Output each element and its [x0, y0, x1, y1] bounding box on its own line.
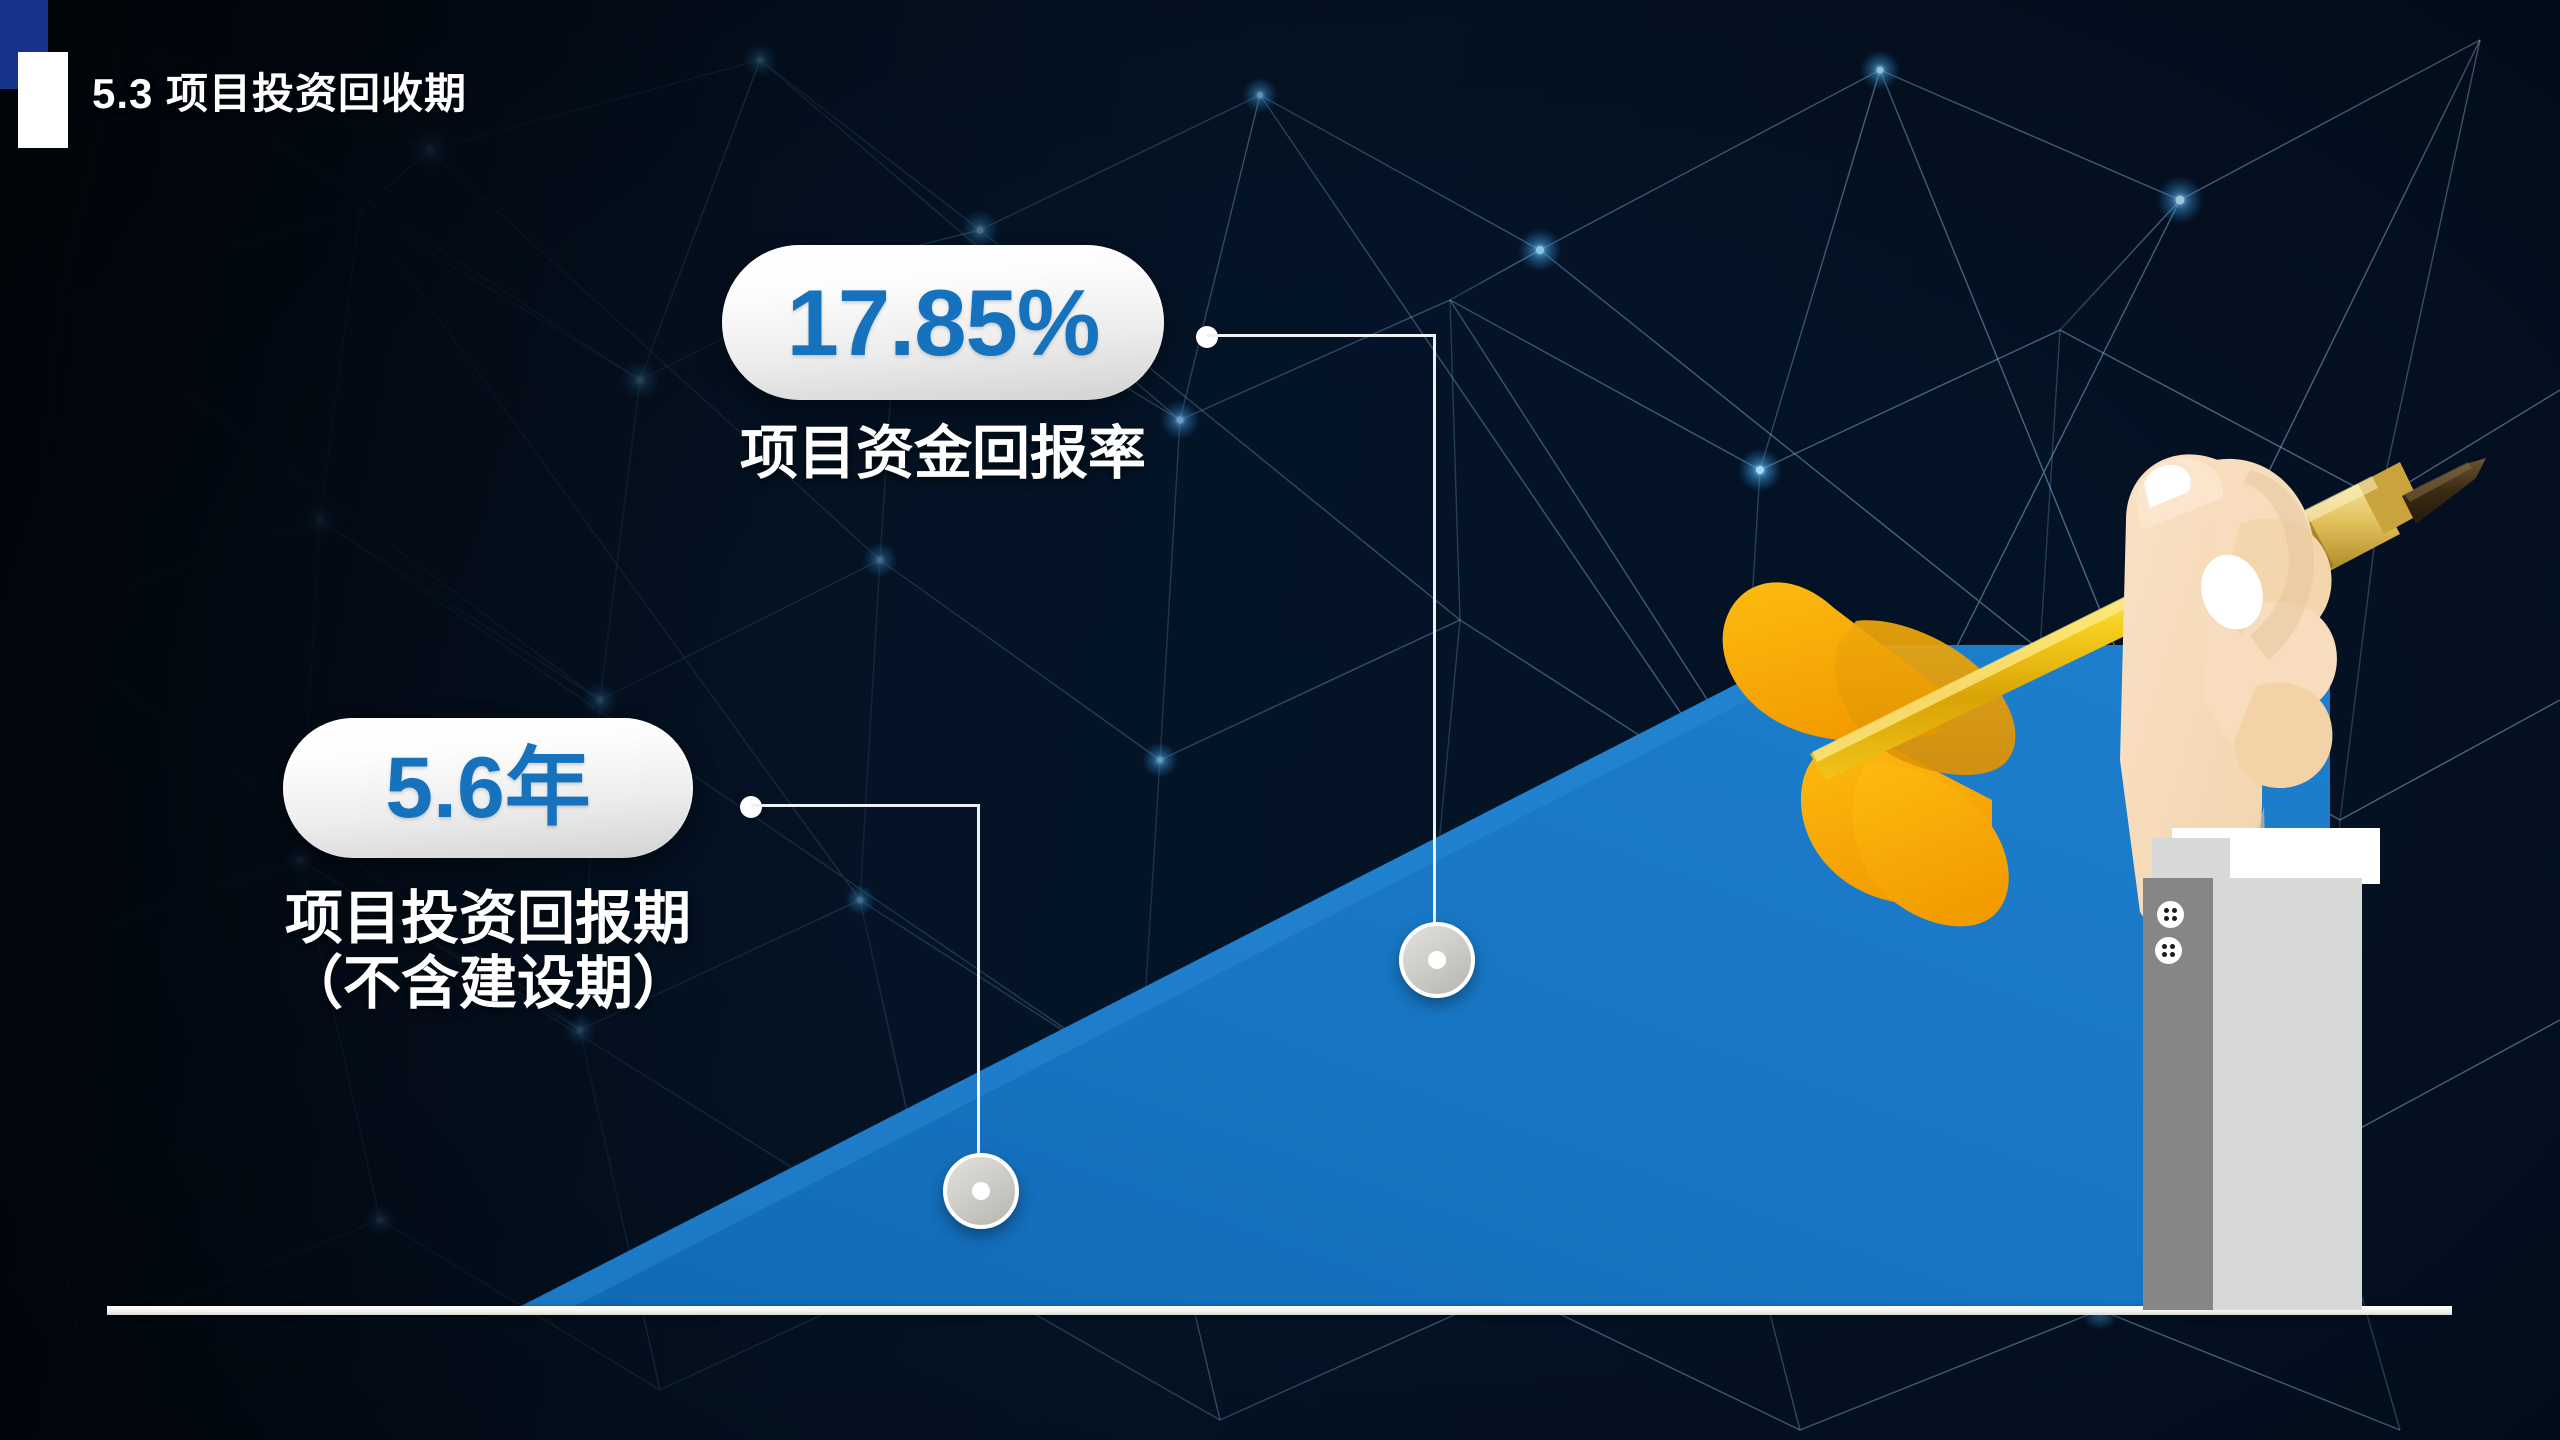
connector-vertical-rate	[1433, 334, 1436, 934]
connector-vertical-period	[977, 804, 980, 1166]
metric-caption-period: 项目投资回报期 （不含建设期）	[165, 887, 811, 1017]
ramp-marker-core	[972, 1182, 990, 1200]
sleeve-tab	[2152, 838, 2230, 882]
connector-horizontal-rate	[1207, 334, 1435, 337]
connector-dot-period	[740, 796, 762, 818]
metric-caption-rate: 项目资金回报率	[620, 422, 1266, 487]
metric-value-rate: 17.85%	[787, 276, 1100, 370]
sleeve-button-bottom	[2155, 937, 2182, 964]
ramp-marker-period[interactable]	[943, 1153, 1019, 1229]
sleeve-button-top	[2157, 901, 2184, 928]
connector-dot-rate	[1196, 326, 1218, 348]
connector-horizontal-period	[751, 804, 979, 807]
title-accent-bar	[18, 52, 68, 148]
ramp-marker-rate[interactable]	[1399, 922, 1475, 998]
slide-canvas: 5.3 项目投资回收期	[0, 0, 2560, 1440]
ground-baseline	[107, 1306, 2452, 1315]
metric-badge-period[interactable]: 5.6年	[283, 718, 693, 858]
metric-badge-rate[interactable]: 17.85%	[722, 245, 1164, 400]
ramp-marker-core	[1428, 951, 1446, 969]
metric-value-period: 5.6年	[385, 745, 591, 831]
page-title: 5.3 项目投资回收期	[92, 60, 467, 121]
